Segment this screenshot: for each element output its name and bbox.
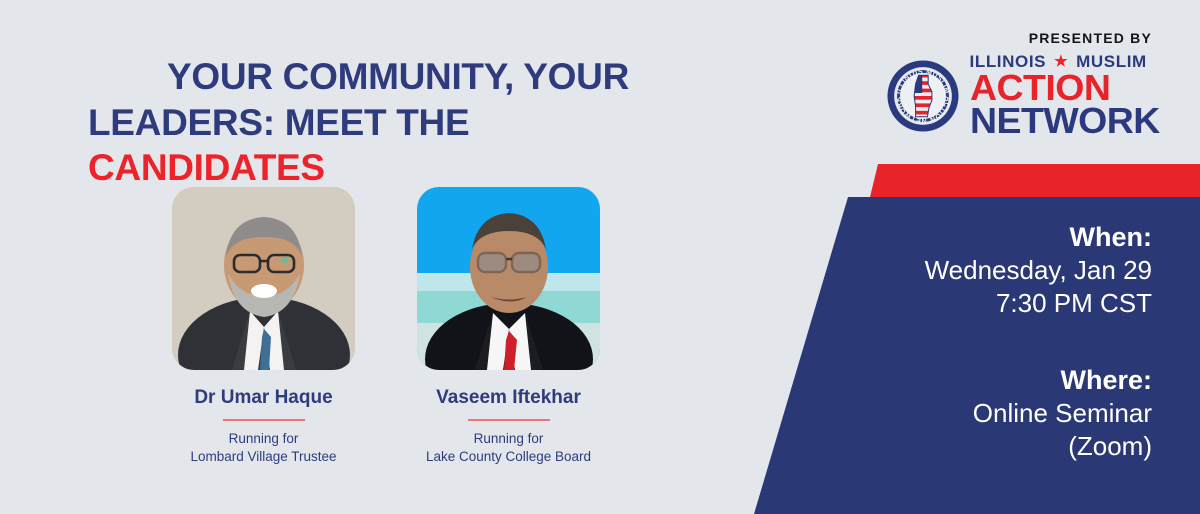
candidate-office: Lombard Village Trustee: [190, 449, 336, 464]
headline-line-2-prefix: Leaders: Meet the: [88, 102, 469, 143]
where-line-1: Online Seminar: [832, 397, 1152, 430]
headline-accent-word: Candidates: [88, 147, 325, 188]
spacer: [832, 319, 1152, 365]
when-time: 7:30 PM CST: [832, 287, 1152, 320]
candidate-list: Dr Umar Haque Running for Lombard Villag…: [172, 187, 600, 466]
candidate-card: Vaseem Iftekhar Running for Lake County …: [417, 187, 600, 466]
when-label: When:: [832, 222, 1152, 254]
sponsor-wordmark: ILLINOIS ★ MUSLIM ACTION NETWORK: [970, 53, 1152, 138]
candidate-photo-vaseem-iftekhar: [417, 187, 600, 370]
candidate-office: Lake County College Board: [426, 449, 591, 464]
candidate-photo-umar-haque: [172, 187, 355, 370]
candidate-card: Dr Umar Haque Running for Lombard Villag…: [172, 187, 355, 466]
candidate-role: Running for Lake County College Board: [417, 430, 600, 466]
where-line-2: (Zoom): [832, 430, 1152, 463]
candidate-divider: [223, 419, 305, 421]
event-promo-poster: Your Community, Your Leaders: Meet the C…: [0, 0, 1200, 514]
page-title: Your Community, Your Leaders: Meet the C…: [88, 54, 708, 191]
event-details: When: Wednesday, Jan 29 7:30 PM CST Wher…: [832, 222, 1152, 463]
candidate-divider: [468, 419, 550, 421]
presented-by-label: PRESENTED BY: [882, 30, 1152, 46]
candidate-name: Vaseem Iftekhar: [417, 387, 600, 409]
where-label: Where:: [832, 365, 1152, 397]
when-date: Wednesday, Jan 29: [832, 254, 1152, 287]
headline-line-1: Your Community, Your: [88, 54, 708, 100]
sponsor-logo: ILLINOIS MUSLIM ACTION NETWORK: [882, 53, 1152, 138]
candidate-running-label: Running for: [474, 431, 544, 446]
wordmark-network: NETWORK: [970, 104, 1160, 138]
headline-line-2: Leaders: Meet the Candidates: [88, 100, 708, 191]
sponsor-block: PRESENTED BY ILLINOIS MUSLIM: [882, 30, 1152, 138]
candidate-name: Dr Umar Haque: [172, 387, 355, 409]
candidate-role: Running for Lombard Village Trustee: [172, 430, 355, 466]
illinois-muslim-action-network-seal-icon: ILLINOIS MUSLIM ACTION NETWORK: [886, 59, 960, 133]
candidate-running-label: Running for: [229, 431, 299, 446]
